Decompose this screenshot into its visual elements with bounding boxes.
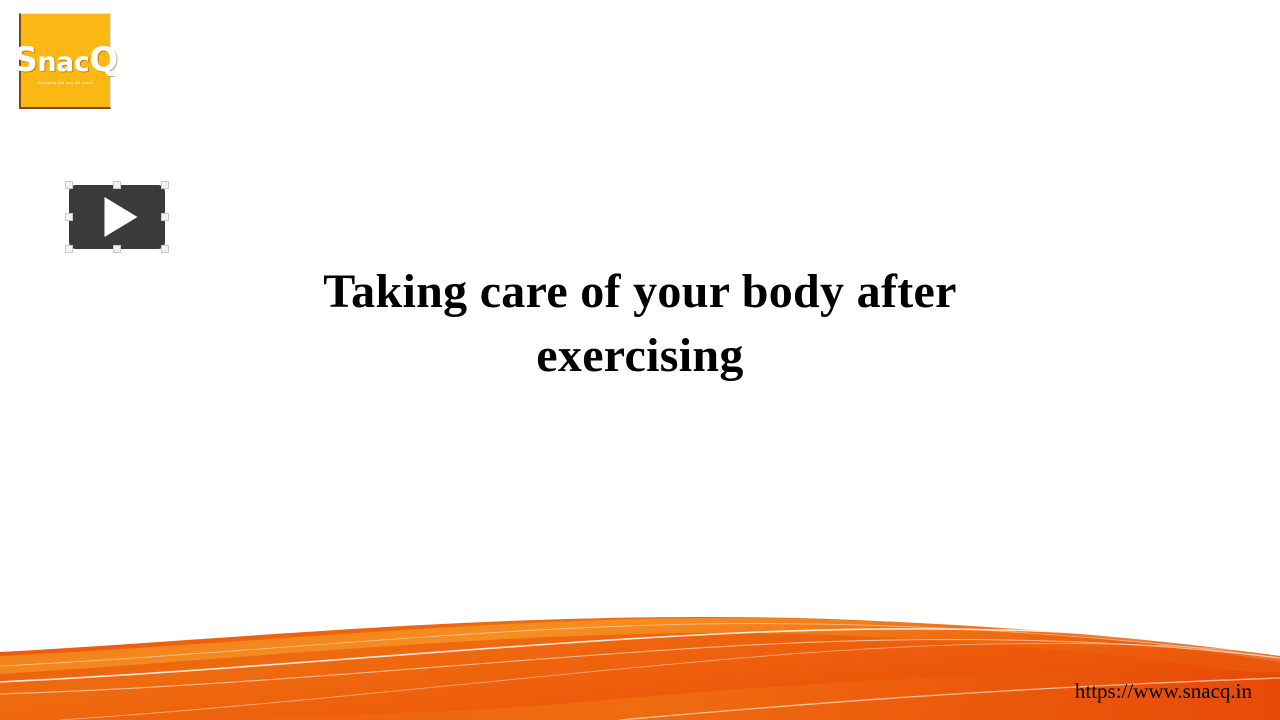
resize-handle-bottom-middle[interactable]	[113, 245, 121, 253]
wave-band-main	[0, 617, 1280, 720]
resize-handle-bottom-right[interactable]	[161, 245, 169, 253]
wave-highlight-1	[0, 629, 1280, 682]
brand-wordmark-initial: S	[13, 40, 37, 80]
resize-handle-top-left[interactable]	[65, 181, 73, 189]
play-icon[interactable]	[104, 197, 137, 237]
resize-handle-top-right[interactable]	[161, 181, 169, 189]
brand-wordmark-last: Q	[89, 40, 117, 80]
resize-handle-middle-right[interactable]	[161, 213, 169, 221]
resize-handle-middle-left[interactable]	[65, 213, 73, 221]
video-placeholder[interactable]	[66, 182, 168, 252]
video-frame[interactable]	[69, 185, 165, 249]
footer-url[interactable]: https://www.snacq.in	[1075, 679, 1252, 704]
presentation-slide: SnacQ Changing the way we snack Taking c…	[0, 0, 1280, 720]
brand-tagline: Changing the way we snack	[38, 81, 93, 85]
slide-title: Taking care of your body after exercisin…	[240, 260, 1040, 388]
resize-handle-top-middle[interactable]	[113, 181, 121, 189]
brand-logo[interactable]: SnacQ Changing the way we snack	[19, 13, 111, 109]
resize-handle-bottom-left[interactable]	[65, 245, 73, 253]
wave-highlight-5	[0, 624, 1280, 666]
brand-wordmark: SnacQ	[13, 43, 117, 77]
brand-wordmark-mid: nac	[37, 47, 89, 78]
wave-band-upper	[0, 618, 1280, 676]
